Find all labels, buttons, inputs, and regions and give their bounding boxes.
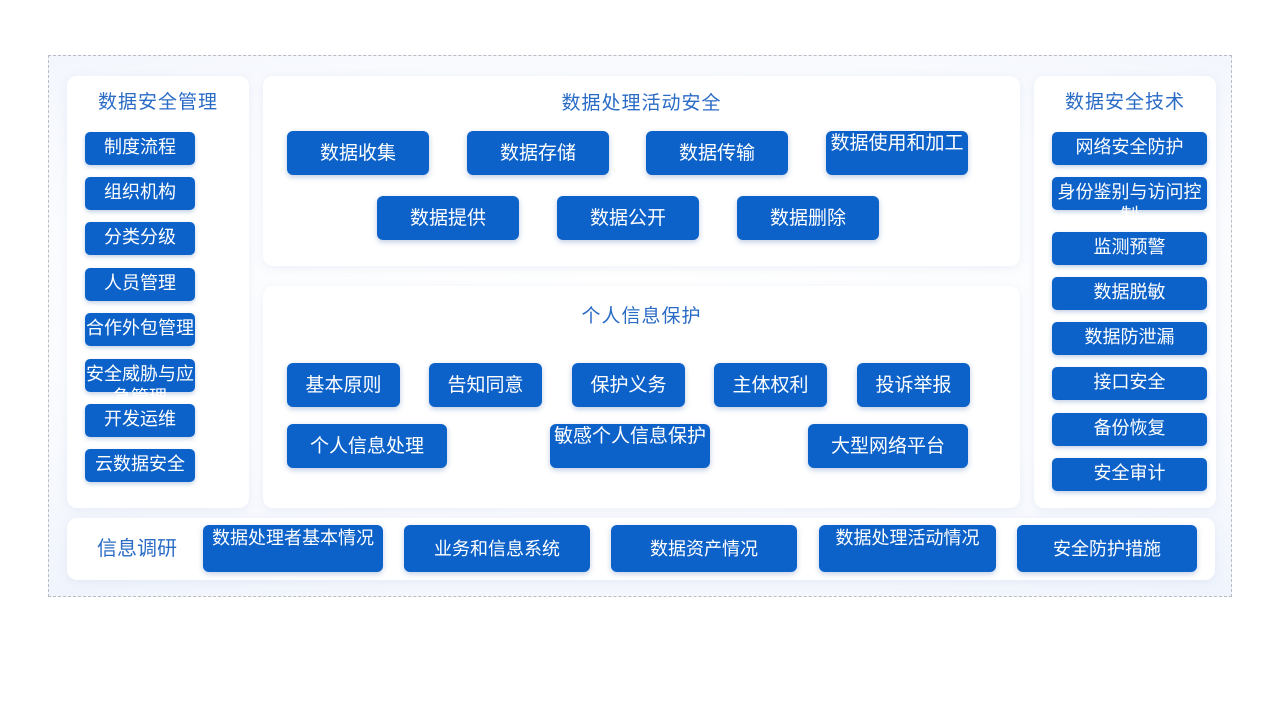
- chip-proc-7-label: 数据删除: [770, 207, 846, 230]
- chip-pers-7[interactable]: 敏感个人信息保护: [550, 424, 710, 468]
- chip-pers-5-label: 投诉举报: [875, 374, 951, 397]
- chip-right-7-label: 备份恢复: [1052, 413, 1207, 440]
- chip-right-3-label: 监测预警: [1052, 232, 1207, 259]
- chip-pers-6-label: 个人信息处理: [310, 435, 424, 458]
- chip-right-2-label: 身份鉴别与访问控制: [1052, 177, 1207, 227]
- chip-pers-8[interactable]: 大型网络平台: [808, 424, 968, 468]
- chip-left-8[interactable]: 云数据安全: [85, 449, 195, 482]
- panel-heading-processing: 数据处理活动安全: [263, 93, 1020, 115]
- chip-right-4[interactable]: 数据脱敏: [1052, 277, 1207, 310]
- panel-heading-right: 数据安全技术: [1034, 92, 1216, 114]
- chip-pers-3-label: 保护义务: [590, 374, 666, 397]
- chip-left-7-label: 开发运维: [85, 404, 195, 431]
- chip-pers-1[interactable]: 基本原则: [287, 363, 400, 407]
- chip-right-2[interactable]: 身份鉴别与访问控制: [1052, 177, 1207, 210]
- chip-pers-2[interactable]: 告知同意: [429, 363, 542, 407]
- chip-pers-5[interactable]: 投诉举报: [857, 363, 970, 407]
- chip-bottom-4[interactable]: 数据处理活动情况: [819, 525, 996, 572]
- chip-right-5[interactable]: 数据防泄漏: [1052, 322, 1207, 355]
- chip-left-4[interactable]: 人员管理: [85, 268, 195, 301]
- chip-bottom-3-label: 数据资产情况: [650, 538, 758, 560]
- chip-left-7[interactable]: 开发运维: [85, 404, 195, 437]
- chip-bottom-4-label: 数据处理活动情况: [836, 527, 980, 549]
- chip-left-8-label: 云数据安全: [85, 449, 195, 476]
- chip-right-8[interactable]: 安全审计: [1052, 458, 1207, 491]
- chip-left-5-label: 合作外包管理: [85, 313, 195, 340]
- chip-right-3[interactable]: 监测预警: [1052, 232, 1207, 265]
- chip-proc-4[interactable]: 数据使用和加工: [826, 131, 968, 175]
- chip-pers-3[interactable]: 保护义务: [572, 363, 685, 407]
- chip-proc-2[interactable]: 数据存储: [467, 131, 609, 175]
- bottom-bar-label: 信息调研: [97, 537, 177, 561]
- chip-bottom-5-label: 安全防护措施: [1053, 538, 1161, 560]
- chip-proc-5[interactable]: 数据提供: [377, 196, 519, 240]
- chip-left-5[interactable]: 合作外包管理: [85, 313, 195, 346]
- chip-pers-8-label: 大型网络平台: [831, 435, 945, 458]
- chip-proc-6[interactable]: 数据公开: [557, 196, 699, 240]
- chip-left-6-label: 安全威胁与应急管理: [85, 359, 195, 409]
- diagram-frame: 数据安全管理 制度流程 组织机构 分类分级 人员管理 合作外包管理 安全威胁与应…: [48, 55, 1232, 597]
- panel-data-security-management: 数据安全管理 制度流程 组织机构 分类分级 人员管理 合作外包管理 安全威胁与应…: [67, 76, 249, 508]
- chip-pers-4[interactable]: 主体权利: [714, 363, 827, 407]
- chip-proc-2-label: 数据存储: [500, 142, 576, 165]
- chip-right-6[interactable]: 接口安全: [1052, 367, 1207, 400]
- chip-right-1[interactable]: 网络安全防护: [1052, 132, 1207, 165]
- chip-proc-6-label: 数据公开: [590, 207, 666, 230]
- chip-left-6[interactable]: 安全威胁与应急管理: [85, 359, 195, 392]
- chip-bottom-5[interactable]: 安全防护措施: [1017, 525, 1197, 572]
- chip-pers-2-label: 告知同意: [447, 374, 523, 397]
- chip-right-5-label: 数据防泄漏: [1052, 322, 1207, 349]
- panel-data-security-technology: 数据安全技术 网络安全防护 身份鉴别与访问控制 监测预警 数据脱敏 数据防泄漏 …: [1034, 76, 1216, 508]
- panel-information-survey: 信息调研 数据处理者基本情况 业务和信息系统 数据资产情况 数据处理活动情况 安…: [67, 518, 1215, 580]
- panel-heading-personal: 个人信息保护: [263, 306, 1020, 328]
- chip-left-4-label: 人员管理: [85, 268, 195, 295]
- chip-bottom-2[interactable]: 业务和信息系统: [404, 525, 590, 572]
- chip-pers-1-label: 基本原则: [305, 374, 381, 397]
- chip-right-8-label: 安全审计: [1052, 458, 1207, 485]
- panel-data-processing-security: 数据处理活动安全 数据收集 数据存储 数据传输 数据使用和加工 数据提供 数据公…: [263, 76, 1020, 266]
- chip-right-6-label: 接口安全: [1052, 367, 1207, 394]
- chip-right-7[interactable]: 备份恢复: [1052, 413, 1207, 446]
- chip-bottom-2-label: 业务和信息系统: [434, 538, 560, 560]
- chip-left-1[interactable]: 制度流程: [85, 132, 195, 165]
- chip-left-3[interactable]: 分类分级: [85, 222, 195, 255]
- chip-right-1-label: 网络安全防护: [1052, 132, 1207, 159]
- chip-pers-7-label: 敏感个人信息保护: [554, 425, 706, 448]
- chip-bottom-1[interactable]: 数据处理者基本情况: [203, 525, 383, 572]
- chip-bottom-3[interactable]: 数据资产情况: [611, 525, 797, 572]
- chip-proc-4-label: 数据使用和加工: [830, 132, 963, 155]
- chip-pers-6[interactable]: 个人信息处理: [287, 424, 447, 468]
- panel-heading-left: 数据安全管理: [67, 92, 249, 114]
- chip-proc-5-label: 数据提供: [410, 207, 486, 230]
- chip-bottom-1-label: 数据处理者基本情况: [212, 527, 374, 549]
- chip-left-1-label: 制度流程: [85, 132, 195, 159]
- panel-personal-information-protection: 个人信息保护 基本原则 告知同意 保护义务 主体权利 投诉举报 个人信息处理 敏…: [263, 286, 1020, 508]
- chip-right-4-label: 数据脱敏: [1052, 277, 1207, 304]
- chip-proc-3-label: 数据传输: [679, 142, 755, 165]
- chip-left-2[interactable]: 组织机构: [85, 177, 195, 210]
- chip-proc-3[interactable]: 数据传输: [646, 131, 788, 175]
- chip-left-2-label: 组织机构: [85, 177, 195, 204]
- chip-pers-4-label: 主体权利: [732, 374, 808, 397]
- chip-proc-1-label: 数据收集: [320, 142, 396, 165]
- chip-proc-1[interactable]: 数据收集: [287, 131, 429, 175]
- chip-proc-7[interactable]: 数据删除: [737, 196, 879, 240]
- chip-left-3-label: 分类分级: [85, 222, 195, 249]
